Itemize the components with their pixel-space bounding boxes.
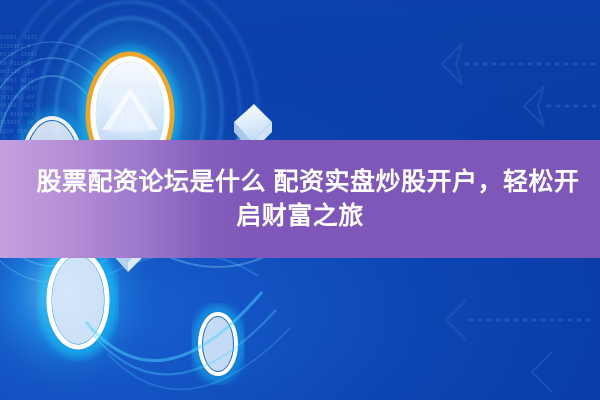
chevron-icon bbox=[446, 300, 466, 340]
headline-band bbox=[0, 140, 600, 258]
lower-left-portal-node bbox=[44, 248, 112, 352]
chevron-icon bbox=[524, 86, 544, 126]
headline-band-tint bbox=[0, 140, 250, 258]
core-flare bbox=[114, 94, 146, 134]
promo-banner: 01001 1011 1100101 0 0110 11001 10 01101… bbox=[0, 0, 600, 400]
chevron-icon bbox=[524, 86, 544, 126]
chevron-icon bbox=[532, 352, 552, 392]
chevron-icon bbox=[442, 44, 462, 84]
chevron-icon bbox=[442, 44, 462, 84]
